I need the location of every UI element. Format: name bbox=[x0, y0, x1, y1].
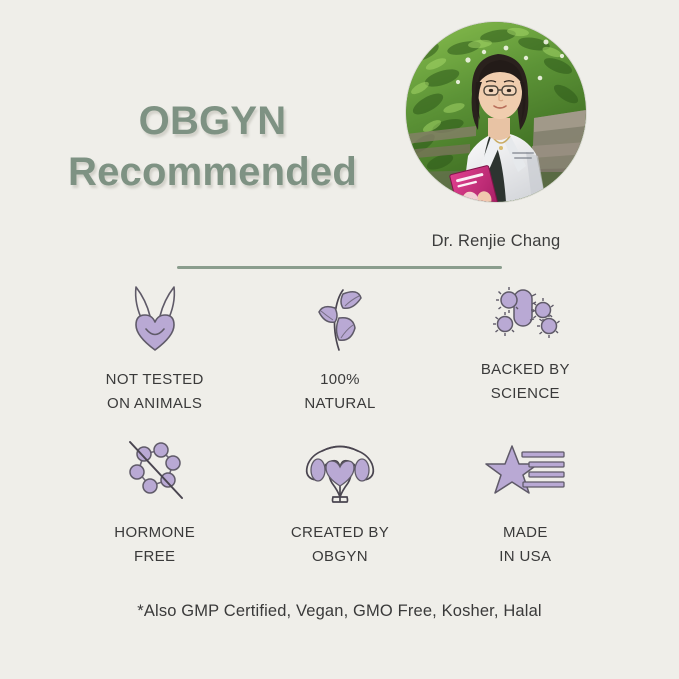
page-title-line-1: OBGYN bbox=[40, 96, 385, 147]
badge-label: CREATED BY OBGYN bbox=[291, 521, 389, 570]
badge-label-line-1: MADE bbox=[499, 521, 551, 545]
badge-label-line-1: NOT TESTED bbox=[106, 368, 204, 392]
badge-created-by-obgyn: CREATED BY OBGYN bbox=[247, 435, 432, 570]
badge-label: MADE IN USA bbox=[499, 521, 551, 570]
badge-label-line-1: HORMONE bbox=[114, 521, 195, 545]
badge-row-1: NOT TESTED ON ANIMALS bbox=[62, 282, 618, 417]
star-stripes-icon bbox=[482, 435, 568, 507]
section-divider bbox=[177, 266, 502, 269]
badge-grid: NOT TESTED ON ANIMALS bbox=[62, 282, 618, 569]
badge-label: BACKED BY SCIENCE bbox=[481, 358, 570, 407]
badge-label-line-2: SCIENCE bbox=[481, 382, 570, 406]
badge-label-line-2: FREE bbox=[114, 545, 195, 569]
badge-label-line-1: BACKED BY bbox=[481, 358, 570, 382]
infographic-canvas: OBGYN Recommended bbox=[0, 0, 679, 679]
leaf-sprig-icon bbox=[303, 282, 377, 354]
badge-label-line-1: 100% bbox=[304, 368, 375, 392]
microbe-icon bbox=[485, 282, 565, 344]
badge-row-2: HORMONE FREE bbox=[62, 435, 618, 570]
badge-hormone-free: HORMONE FREE bbox=[62, 435, 247, 570]
page-title-line-2: Recommended bbox=[40, 147, 385, 198]
footer-note: *Also GMP Certified, Vegan, GMO Free, Ko… bbox=[0, 602, 679, 621]
doctor-name-caption: Dr. Renjie Chang bbox=[356, 232, 636, 251]
badge-label: HORMONE FREE bbox=[114, 521, 195, 570]
badge-backed-by-science: BACKED BY SCIENCE bbox=[433, 282, 618, 417]
badge-label-line-2: ON ANIMALS bbox=[106, 392, 204, 416]
badge-label: 100% NATURAL bbox=[304, 368, 375, 417]
badge-label-line-2: OBGYN bbox=[291, 545, 389, 569]
molecule-slash-icon bbox=[116, 435, 194, 507]
doctor-photo-wrapper bbox=[406, 22, 586, 202]
page-title: OBGYN Recommended bbox=[40, 96, 385, 198]
badge-not-tested-on-animals: NOT TESTED ON ANIMALS bbox=[62, 282, 247, 417]
bunny-heart-icon bbox=[118, 282, 192, 354]
badge-label: NOT TESTED ON ANIMALS bbox=[106, 368, 204, 417]
uterus-heart-icon bbox=[288, 435, 392, 507]
badge-label-line-2: IN USA bbox=[499, 545, 551, 569]
badge-made-in-usa: MADE IN USA bbox=[433, 435, 618, 570]
badge-label-line-2: NATURAL bbox=[304, 392, 375, 416]
doctor-portrait-illustration bbox=[406, 22, 586, 202]
badge-label-line-1: CREATED BY bbox=[291, 521, 389, 545]
badge-100-percent-natural: 100% NATURAL bbox=[247, 282, 432, 417]
doctor-portrait-photo bbox=[406, 22, 586, 202]
